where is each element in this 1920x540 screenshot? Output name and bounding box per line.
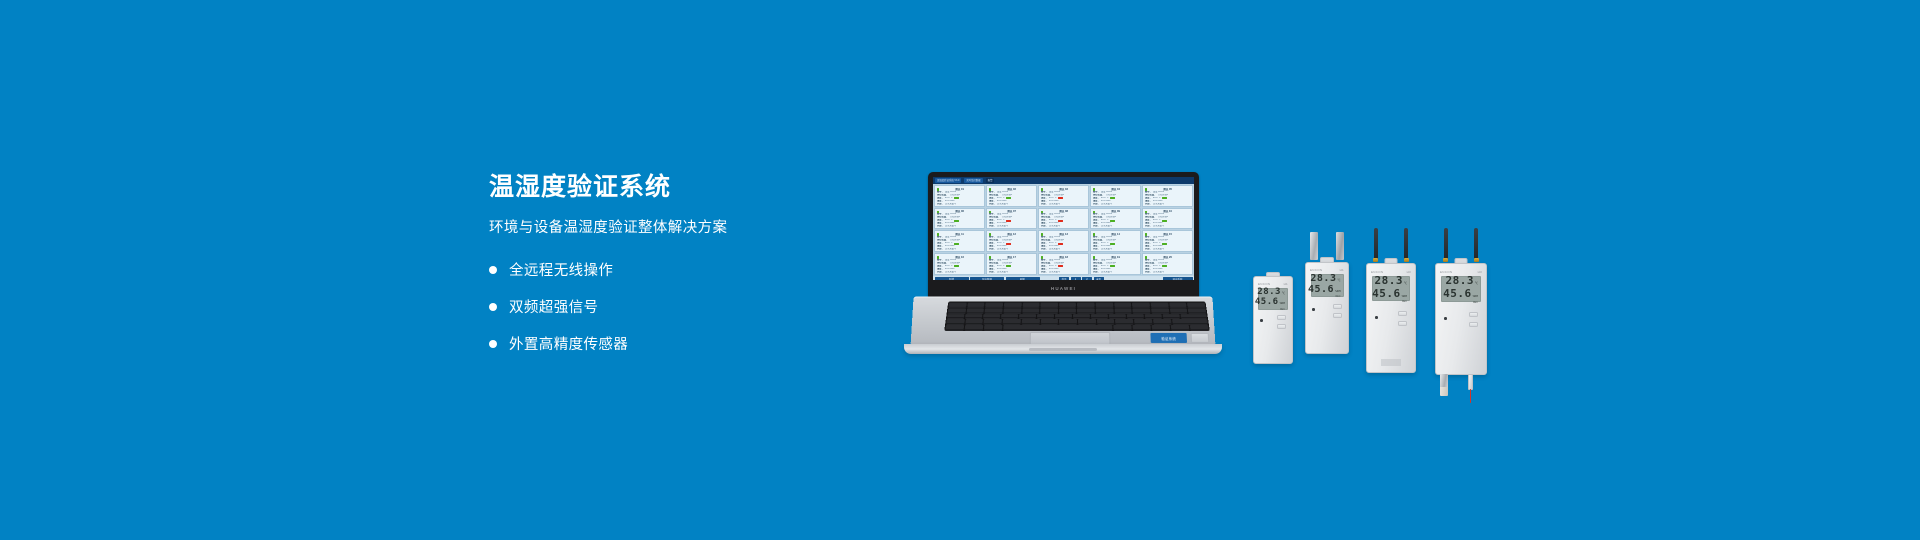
card-row-value: 正常采集中 bbox=[997, 271, 1009, 274]
external-probe-body bbox=[1440, 374, 1448, 388]
card-row-value: 正常采集中 bbox=[1101, 225, 1113, 228]
device-model-right: H3 bbox=[1478, 270, 1482, 274]
card-status-dot-icon bbox=[1093, 188, 1096, 191]
keyboard-key[interactable] bbox=[946, 319, 964, 324]
probe-connector bbox=[1468, 374, 1473, 390]
device-brand-row: ENCON H1 bbox=[1306, 268, 1348, 272]
laptop-screen: 温湿度验证系统 V3.0 实时监控数据 报警 测点 01编号：温度 01-01测… bbox=[933, 177, 1194, 280]
device-model-right: H1 bbox=[1340, 268, 1344, 272]
page-subtitle: 环境与设备温湿度验证整体解决方案 bbox=[489, 216, 849, 237]
monitor-card[interactable]: 测点 08编号：温度 01-01测点位置：冷库区域A温度：23.6 ℃湿度：45… bbox=[1038, 208, 1089, 230]
lcd-temperature-row: 28.3 ℃ bbox=[1444, 274, 1478, 287]
card-status-dot-icon bbox=[1041, 233, 1044, 236]
lcd-humidity-unit: %RH bbox=[1473, 294, 1478, 298]
keyboard-key[interactable] bbox=[1059, 308, 1077, 313]
keyboard-key[interactable] bbox=[1041, 303, 1058, 308]
lcd-status-text: REC bbox=[1314, 295, 1341, 298]
keyboard-key[interactable] bbox=[1169, 303, 1187, 308]
external-probe-filter bbox=[1440, 387, 1448, 396]
keyboard-key[interactable] bbox=[1022, 319, 1040, 324]
antenna-base-left bbox=[1373, 258, 1378, 262]
card-row-value: 正常采集中 bbox=[945, 271, 957, 274]
keyboard-key[interactable] bbox=[1153, 319, 1171, 324]
card-status-dot-icon bbox=[1145, 211, 1148, 214]
keyboard-key[interactable] bbox=[965, 314, 982, 319]
device-vent-grille bbox=[1382, 359, 1401, 366]
pagination-page-1[interactable]: 1 bbox=[1071, 277, 1081, 280]
card-data-row: 状态：正常采集中 bbox=[1145, 225, 1190, 228]
card-data-row: 状态：正常采集中 bbox=[937, 248, 982, 251]
keyboard-key[interactable] bbox=[1004, 303, 1022, 308]
card-row-label: 状态： bbox=[937, 248, 944, 251]
probe-cable bbox=[1470, 389, 1472, 403]
antenna-left bbox=[1444, 228, 1448, 260]
device-wireless-logger-dual-antenna: ENCON H3 28.3 ℃ 45.6 %RH REC bbox=[1366, 228, 1416, 378]
lcd-humidity-row: 45.6 %RH bbox=[1314, 284, 1341, 295]
bullet-dot-icon bbox=[489, 340, 497, 348]
laptop-open-notch bbox=[1029, 348, 1097, 351]
antenna-right bbox=[1474, 228, 1478, 260]
card-row-label: 状态： bbox=[989, 248, 996, 251]
card-status-dot-icon bbox=[989, 188, 992, 191]
card-status-dot-icon bbox=[937, 256, 940, 259]
card-row-value: 正常采集中 bbox=[997, 203, 1009, 206]
keyboard-key[interactable] bbox=[1096, 303, 1114, 308]
keyboard-key[interactable] bbox=[1188, 308, 1206, 313]
device-brand-left: ENCON bbox=[1310, 268, 1322, 272]
card-data-row: 状态：正常采集中 bbox=[1145, 203, 1190, 206]
keyboard-key[interactable] bbox=[1145, 314, 1162, 319]
keyboard-key[interactable] bbox=[1040, 319, 1058, 324]
device-handheld-logger-probe: ENCON H1 28.3 ℃ 45.6 %RH REC bbox=[1305, 232, 1349, 364]
toolbar-button-exit[interactable]: 退出系统 bbox=[1163, 277, 1193, 280]
keyboard-key[interactable] bbox=[1055, 314, 1072, 319]
keyboard-key[interactable] bbox=[1170, 308, 1188, 313]
page-title: 温湿度验证系统 bbox=[489, 172, 849, 202]
keyboard-key[interactable] bbox=[1115, 319, 1133, 324]
device-body: ENCON H1 28.3 ℃ 45.6 %RH REC bbox=[1253, 276, 1293, 364]
card-status-dot-icon bbox=[1145, 188, 1148, 191]
laptop-deck: 验证系统 bbox=[910, 297, 1215, 348]
device-lcd-display: 28.3 ℃ 45.6 %RH REC bbox=[1258, 288, 1288, 310]
device-button-down[interactable] bbox=[1277, 324, 1286, 329]
keyboard-key[interactable] bbox=[1114, 303, 1132, 308]
lcd-temperature-row: 28.3 ℃ bbox=[1314, 273, 1341, 284]
card-data-row: 状态：正常采集中 bbox=[1093, 225, 1138, 228]
keyboard-key[interactable] bbox=[967, 303, 985, 308]
lcd-status-text: REC bbox=[1261, 308, 1285, 311]
card-row-label: 状态： bbox=[1041, 225, 1048, 228]
lcd-temperature-value: 28.3 bbox=[1310, 273, 1336, 284]
lcd-temperature-row: 28.3 ℃ bbox=[1375, 274, 1407, 287]
monitor-card[interactable]: 测点 07编号：温度 01-01测点位置：冷库区域A温度：23.6 ℃湿度：45… bbox=[986, 208, 1037, 230]
keyboard-key[interactable] bbox=[1109, 314, 1126, 319]
card-status-dot-icon bbox=[1145, 256, 1148, 259]
lcd-humidity-value: 45.6 bbox=[1255, 297, 1279, 307]
keyboard-key[interactable] bbox=[947, 314, 965, 319]
monitor-card[interactable]: 测点 19编号：温度 01-01测点位置：冷库区域A温度：23.6 ℃湿度：45… bbox=[1090, 253, 1141, 275]
keyboard-key[interactable] bbox=[948, 303, 966, 308]
card-data-row: 状态：正常采集中 bbox=[937, 271, 982, 274]
card-row-label: 状态： bbox=[1145, 248, 1152, 251]
device-wireless-logger-external-probe: ENCON H3 28.3 ℃ 45.6 %RH REC bbox=[1435, 228, 1487, 396]
lcd-temperature-unit: ℃ bbox=[1404, 281, 1407, 285]
card-data-row: 状态：正常采集中 bbox=[989, 271, 1034, 274]
toolbar-button-export[interactable]: 导出数据 bbox=[970, 277, 1004, 280]
keyboard-key[interactable] bbox=[1003, 325, 1112, 330]
card-row-label: 状态： bbox=[1145, 203, 1152, 206]
card-row-label: 状态： bbox=[1145, 225, 1152, 228]
card-status-dot-icon bbox=[1041, 211, 1044, 214]
keyboard-key[interactable] bbox=[1022, 303, 1040, 308]
pagination: 首页 1 2 末页 bbox=[1059, 277, 1104, 280]
keyboard-key[interactable] bbox=[1059, 303, 1076, 308]
card-status-dot-icon bbox=[1093, 256, 1096, 259]
keyboard-key[interactable] bbox=[1073, 314, 1090, 319]
device-lcd-display: 28.3 ℃ 45.6 %RH REC bbox=[1372, 276, 1410, 301]
keyboard-key[interactable] bbox=[1003, 319, 1021, 324]
keyboard-row bbox=[948, 303, 1205, 308]
device-led-indicator bbox=[1375, 316, 1378, 319]
lcd-humidity-unit: %RH bbox=[1280, 301, 1285, 305]
lcd-humidity-row: 45.6 %RH bbox=[1261, 297, 1285, 307]
card-row-label: 状态： bbox=[937, 225, 944, 228]
keyboard-key[interactable] bbox=[1022, 308, 1040, 313]
keyboard-key[interactable] bbox=[1132, 325, 1151, 330]
device-brand-left: ENCON bbox=[1258, 282, 1270, 286]
feature-list: 全远程无线操作 双频超强信号 外置高精度传感器 bbox=[489, 259, 849, 354]
lcd-temperature-unit: ℃ bbox=[1475, 281, 1478, 285]
lcd-status-text: REC bbox=[1444, 301, 1478, 304]
toolbar-button-refresh[interactable]: 刷新 bbox=[1006, 277, 1040, 280]
card-status-dot-icon bbox=[989, 233, 992, 236]
keyboard-key[interactable] bbox=[1077, 303, 1094, 308]
card-row-label: 状态： bbox=[1093, 248, 1100, 251]
keyboard-key[interactable] bbox=[1187, 303, 1205, 308]
keyboard-key[interactable] bbox=[1040, 308, 1058, 313]
lcd-temperature-value: 28.3 bbox=[1445, 274, 1474, 287]
card-row-value: 正常采集中 bbox=[945, 225, 957, 228]
card-row-value: 正常采集中 bbox=[1153, 203, 1165, 206]
monitor-card[interactable]: 测点 14编号：温度 01-01测点位置：冷库区域A温度：23.6 ℃湿度：45… bbox=[1090, 230, 1141, 252]
keyboard-key[interactable] bbox=[965, 325, 984, 330]
laptop-sticker-secondary bbox=[1191, 333, 1210, 343]
card-row-label: 状态： bbox=[1041, 203, 1048, 206]
card-row-label: 状态： bbox=[1041, 271, 1048, 274]
lcd-humidity-unit: %RH bbox=[1402, 294, 1407, 298]
card-data-row: 状态：正常采集中 bbox=[937, 203, 982, 206]
card-row-label: 状态： bbox=[1041, 248, 1048, 251]
card-data-row: 状态：正常采集中 bbox=[1041, 271, 1086, 274]
device-button-up[interactable] bbox=[1398, 311, 1407, 316]
keyboard-key[interactable] bbox=[1171, 325, 1190, 330]
lcd-temperature-unit: ℃ bbox=[1282, 291, 1285, 295]
banner-copy: 温湿度验证系统 环境与设备温湿度验证整体解决方案 全远程无线操作 双频超强信号 … bbox=[489, 172, 849, 370]
card-data-row: 状态：正常采集中 bbox=[1145, 248, 1190, 251]
laptop-front-edge bbox=[904, 344, 1222, 354]
lcd-humidity-value: 45.6 bbox=[1308, 284, 1334, 295]
device-button-up[interactable] bbox=[1469, 312, 1478, 317]
device-body: ENCON H1 28.3 ℃ 45.6 %RH REC bbox=[1305, 262, 1349, 354]
antenna-right bbox=[1404, 228, 1408, 260]
monitor-card[interactable]: 测点 01编号：温度 01-01测点位置：冷库区域A温度：23.6 ℃湿度：45… bbox=[934, 185, 985, 207]
antenna-base-left bbox=[1443, 258, 1448, 262]
lcd-temperature-row: 28.3 ℃ bbox=[1261, 287, 1285, 297]
card-status-dot-icon bbox=[989, 256, 992, 259]
keyboard-key[interactable] bbox=[1003, 308, 1021, 313]
card-status-dot-icon bbox=[1041, 188, 1044, 191]
card-row-value: 正常采集中 bbox=[1153, 271, 1165, 274]
keyboard-key[interactable] bbox=[1078, 319, 1096, 324]
monitor-card[interactable]: 测点 03编号：温度 01-01测点位置：冷库区域A温度：23.6 ℃湿度：45… bbox=[1038, 185, 1089, 207]
monitor-card[interactable]: 测点 15编号：温度 01-01测点位置：冷库区域A温度：23.6 ℃湿度：45… bbox=[1142, 230, 1193, 252]
card-data-row: 状态：正常采集中 bbox=[1041, 203, 1086, 206]
card-status-dot-icon bbox=[937, 188, 940, 191]
pagination-page-2[interactable]: 2 bbox=[1082, 277, 1092, 280]
keyboard-key[interactable] bbox=[1091, 314, 1108, 319]
keyboard-key[interactable] bbox=[1134, 319, 1152, 324]
keyboard-key[interactable] bbox=[1113, 325, 1131, 330]
card-data-row: 状态：正常采集中 bbox=[1093, 271, 1138, 274]
app-toolbar: 新增 导出数据 刷新 首页 1 2 末页 退出系统 bbox=[933, 276, 1194, 280]
monitor-card[interactable]: 测点 12编号：温度 01-01测点位置：冷库区域A温度：23.6 ℃湿度：45… bbox=[986, 230, 1037, 252]
keyboard-key[interactable] bbox=[1181, 314, 1207, 319]
monitor-card-grid: 测点 01编号：温度 01-01测点位置：冷库区域A温度：23.6 ℃湿度：45… bbox=[933, 184, 1194, 276]
card-status-dot-icon bbox=[989, 211, 992, 214]
lcd-status-text: REC bbox=[1375, 300, 1407, 303]
card-status-dot-icon bbox=[937, 233, 940, 236]
monitor-card[interactable]: 测点 17编号：温度 01-01测点位置：冷库区域A温度：23.6 ℃湿度：45… bbox=[986, 253, 1037, 275]
monitor-card[interactable]: 测点 02编号：温度 01-01测点位置：冷库区域A温度：23.6 ℃湿度：45… bbox=[986, 185, 1037, 207]
keyboard-key[interactable] bbox=[1172, 319, 1208, 324]
antenna-base-right bbox=[1404, 258, 1409, 262]
lcd-humidity-value: 45.6 bbox=[1372, 287, 1401, 300]
device-button-down[interactable] bbox=[1469, 322, 1478, 327]
card-data-row: 状态：正常采集中 bbox=[989, 248, 1034, 251]
laptop-keyboard[interactable] bbox=[944, 302, 1210, 331]
card-status-dot-icon bbox=[1145, 233, 1148, 236]
keyboard-key[interactable] bbox=[1037, 314, 1054, 319]
card-row-value: 正常采集中 bbox=[945, 248, 957, 251]
lcd-temperature-unit: ℃ bbox=[1337, 278, 1340, 282]
keyboard-key[interactable] bbox=[984, 325, 1003, 330]
device-button-up[interactable] bbox=[1333, 304, 1342, 309]
keyboard-key[interactable] bbox=[1001, 314, 1018, 319]
app-tab-alarm[interactable]: 报警 bbox=[986, 178, 995, 183]
card-row-value: 正常采集中 bbox=[1049, 248, 1061, 251]
card-data-row: 状态：正常采集中 bbox=[1093, 248, 1138, 251]
card-row-value: 正常采集中 bbox=[1101, 271, 1113, 274]
card-data-row: 状态：正常采集中 bbox=[1093, 203, 1138, 206]
antenna-left bbox=[1374, 228, 1378, 260]
monitor-card[interactable]: 测点 11编号：温度 01-01测点位置：冷库区域A温度：23.6 ℃湿度：45… bbox=[934, 230, 985, 252]
card-row-label: 状态： bbox=[1093, 203, 1100, 206]
keyboard-key[interactable] bbox=[1163, 314, 1181, 319]
keyboard-key[interactable] bbox=[1077, 308, 1095, 313]
card-data-row: 状态：正常采集中 bbox=[937, 225, 982, 228]
pagination-last[interactable]: 末页 bbox=[1094, 277, 1104, 280]
laptop-chin: HUAWEI bbox=[933, 280, 1194, 297]
keyboard-key[interactable] bbox=[985, 303, 1003, 308]
card-row-label: 状态： bbox=[1145, 271, 1152, 274]
device-handheld-logger-small: ENCON H1 28.3 ℃ 45.6 %RH REC bbox=[1253, 272, 1293, 364]
bullet-dot-icon bbox=[489, 266, 497, 274]
keyboard-row bbox=[948, 308, 1206, 313]
card-row-value: 正常采集中 bbox=[1049, 203, 1061, 206]
card-data-row: 状态：正常采集中 bbox=[1041, 225, 1086, 228]
monitor-card[interactable]: 测点 10编号：温度 01-01测点位置：冷库区域A温度：23.6 ℃湿度：45… bbox=[1142, 208, 1193, 230]
card-row-value: 正常采集中 bbox=[1153, 225, 1165, 228]
card-status-dot-icon bbox=[1093, 233, 1096, 236]
card-data-row: 状态：正常采集中 bbox=[989, 225, 1034, 228]
keyboard-key[interactable] bbox=[983, 314, 1000, 319]
device-led-indicator bbox=[1260, 319, 1263, 322]
keyboard-row bbox=[947, 314, 1207, 319]
keyboard-key[interactable] bbox=[945, 325, 964, 330]
app-titlebar: 温湿度验证系统 V3.0 实时监控数据 报警 bbox=[933, 177, 1194, 184]
keyboard-key[interactable] bbox=[1019, 314, 1036, 319]
keyboard-key[interactable] bbox=[1127, 314, 1144, 319]
keyboard-key[interactable] bbox=[1151, 308, 1169, 313]
keyboard-key[interactable] bbox=[1151, 303, 1169, 308]
device-top-probe-right bbox=[1336, 232, 1344, 260]
card-data-row: 状态：正常采集中 bbox=[1145, 271, 1190, 274]
device-button-down[interactable] bbox=[1333, 313, 1342, 318]
keyboard-key[interactable] bbox=[1097, 319, 1115, 324]
device-button-down[interactable] bbox=[1398, 321, 1407, 326]
monitor-card[interactable]: 测点 20编号：温度 01-01测点位置：冷库区域A温度：23.6 ℃湿度：45… bbox=[1142, 253, 1193, 275]
card-row-label: 状态： bbox=[989, 203, 996, 206]
feature-label: 外置高精度传感器 bbox=[509, 333, 628, 354]
card-data-row: 状态：正常采集中 bbox=[1041, 248, 1086, 251]
card-row-value: 正常采集中 bbox=[1049, 225, 1061, 228]
laptop-base: 验证系统 bbox=[898, 296, 1228, 358]
device-top-probe-left bbox=[1310, 232, 1318, 260]
feature-item-3: 外置高精度传感器 bbox=[489, 333, 849, 354]
card-row-value: 正常采集中 bbox=[945, 203, 957, 206]
product-banner: 温湿度验证系统 环境与设备温湿度验证整体解决方案 全远程无线操作 双频超强信号 … bbox=[0, 0, 1920, 540]
keyboard-key[interactable] bbox=[1133, 308, 1151, 313]
keyboard-row bbox=[945, 325, 1208, 330]
card-data-row: 状态：正常采集中 bbox=[989, 203, 1034, 206]
card-row-label: 状态： bbox=[937, 203, 944, 206]
keyboard-key[interactable] bbox=[966, 308, 984, 313]
keyboard-key[interactable] bbox=[984, 319, 1002, 324]
monitor-card[interactable]: 测点 04编号：温度 01-01测点位置：冷库区域A温度：23.6 ℃湿度：45… bbox=[1090, 185, 1141, 207]
lcd-humidity-row: 45.6 %RH bbox=[1444, 287, 1478, 300]
monitor-card[interactable]: 测点 06编号：温度 01-01测点位置：冷库区域A温度：23.6 ℃湿度：45… bbox=[934, 208, 985, 230]
card-row-label: 状态： bbox=[989, 271, 996, 274]
lcd-humidity-value: 45.6 bbox=[1443, 287, 1472, 300]
lcd-humidity-row: 45.6 %RH bbox=[1375, 287, 1407, 300]
feature-item-2: 双频超强信号 bbox=[489, 296, 849, 317]
card-row-value: 正常采集中 bbox=[997, 225, 1009, 228]
bullet-dot-icon bbox=[489, 303, 497, 311]
card-row-value: 正常采集中 bbox=[1153, 248, 1165, 251]
card-row-value: 正常采集中 bbox=[1049, 271, 1061, 274]
card-row-label: 状态： bbox=[937, 271, 944, 274]
lcd-temperature-value: 28.3 bbox=[1257, 287, 1281, 297]
monitor-card[interactable]: 测点 09编号：温度 01-01测点位置：冷库区域A温度：23.6 ℃湿度：45… bbox=[1090, 208, 1141, 230]
lcd-temperature-value: 28.3 bbox=[1374, 274, 1403, 287]
keyboard-key[interactable] bbox=[1059, 319, 1077, 324]
laptop-sticker: 验证系统 bbox=[1150, 333, 1187, 343]
device-body: ENCON H3 28.3 ℃ 45.6 %RH REC bbox=[1366, 263, 1416, 373]
laptop-product-image: 温湿度验证系统 V3.0 实时监控数据 报警 测点 01编号：温度 01-01测… bbox=[898, 172, 1228, 372]
keyboard-key[interactable] bbox=[1114, 308, 1132, 313]
pagination-first[interactable]: 首页 bbox=[1059, 277, 1069, 280]
device-led-indicator bbox=[1444, 317, 1447, 320]
device-led-indicator bbox=[1312, 308, 1315, 311]
device-lcd-display: 28.3 ℃ 45.6 %RH REC bbox=[1441, 276, 1481, 302]
toolbar-button-add[interactable]: 新增 bbox=[935, 277, 969, 280]
device-body: ENCON H3 28.3 ℃ 45.6 %RH REC bbox=[1435, 263, 1487, 375]
keyboard-key[interactable] bbox=[985, 308, 1003, 313]
monitor-card[interactable]: 测点 16编号：温度 01-01测点位置：冷库区域A温度：23.6 ℃湿度：45… bbox=[934, 253, 985, 275]
device-button-up[interactable] bbox=[1277, 315, 1286, 320]
device-brand-row: ENCON H1 bbox=[1254, 282, 1292, 286]
monitor-card[interactable]: 测点 05编号：温度 01-01测点位置：冷库区域A温度：23.6 ℃湿度：45… bbox=[1142, 185, 1193, 207]
laptop-brand-label: HUAWEI bbox=[1051, 286, 1076, 291]
card-status-dot-icon bbox=[1041, 256, 1044, 259]
monitor-card[interactable]: 测点 18编号：温度 01-01测点位置：冷库区域A温度：23.6 ℃湿度：45… bbox=[1038, 253, 1089, 275]
app-tab-title[interactable]: 温湿度验证系统 V3.0 bbox=[935, 178, 961, 183]
card-row-label: 状态： bbox=[1093, 271, 1100, 274]
card-row-label: 状态： bbox=[989, 225, 996, 228]
keyboard-key[interactable] bbox=[1096, 308, 1114, 313]
keyboard-row bbox=[946, 319, 1208, 324]
card-row-value: 正常采集中 bbox=[1101, 248, 1113, 251]
app-tab-monitor[interactable]: 实时监控数据 bbox=[964, 178, 982, 183]
laptop-lid: 温湿度验证系统 V3.0 实时监控数据 报警 测点 01编号：温度 01-01测… bbox=[928, 172, 1199, 299]
feature-item-1: 全远程无线操作 bbox=[489, 259, 849, 280]
keyboard-key[interactable] bbox=[1190, 325, 1209, 330]
card-status-dot-icon bbox=[1093, 211, 1096, 214]
feature-label: 全远程无线操作 bbox=[509, 259, 613, 280]
keyboard-key[interactable] bbox=[965, 319, 983, 324]
device-model-right: H3 bbox=[1407, 270, 1411, 274]
device-model-right: H1 bbox=[1284, 282, 1288, 286]
keyboard-key[interactable] bbox=[948, 308, 966, 313]
keyboard-key[interactable] bbox=[1152, 325, 1171, 330]
lcd-humidity-unit: %RH bbox=[1335, 289, 1340, 293]
keyboard-key[interactable] bbox=[1132, 303, 1150, 308]
card-row-value: 正常采集中 bbox=[1101, 203, 1113, 206]
device-lcd-display: 28.3 ℃ 45.6 %RH REC bbox=[1311, 274, 1344, 297]
card-row-value: 正常采集中 bbox=[997, 248, 1009, 251]
feature-label: 双频超强信号 bbox=[509, 296, 598, 317]
monitor-card[interactable]: 测点 13编号：温度 01-01测点位置：冷库区域A温度：23.6 ℃湿度：45… bbox=[1038, 230, 1089, 252]
card-status-dot-icon bbox=[937, 211, 940, 214]
antenna-base-right bbox=[1474, 258, 1479, 262]
card-row-label: 状态： bbox=[1093, 225, 1100, 228]
